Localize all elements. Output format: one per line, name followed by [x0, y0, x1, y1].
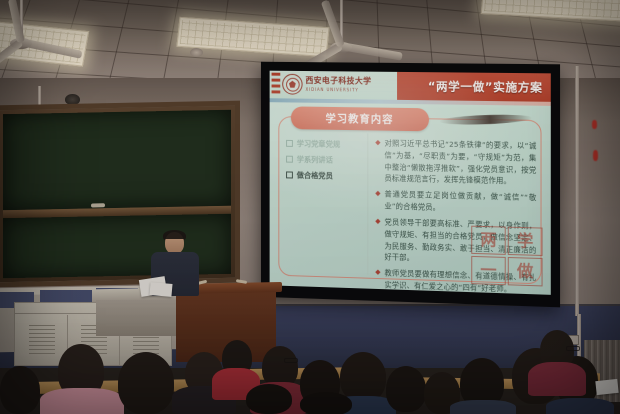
audience-head	[118, 352, 174, 414]
chalk-piece[interactable]	[91, 203, 105, 207]
slide-paragraph: ◆ 普通党员要立足岗位做贡献，做“诚信”“敬业”的合格党员。	[375, 189, 536, 217]
watermark-char-2: 学	[508, 227, 543, 256]
university-logo: 西安电子科技大学 XIDIAN UNIVERSITY	[282, 74, 371, 96]
green-chalkboard	[0, 101, 240, 288]
bullet-icon: ◆	[375, 216, 380, 263]
ceiling-fan-left	[18, 0, 24, 44]
ceiling-fan-right	[338, 0, 344, 48]
eyeglasses-icon	[566, 346, 580, 351]
slide-nav-list: 学习党章党规 学系列讲话 做合格党员	[286, 138, 362, 187]
audience-shoulders	[40, 388, 124, 414]
eyeglasses-icon	[284, 358, 298, 363]
pipe-mark-2	[593, 150, 598, 161]
pipe-mark-1	[592, 120, 597, 129]
bullet-icon: ◆	[375, 189, 380, 213]
slide-paragraph-text-1: 对照习近平总书记“25条铁律”的要求，以“诚信”为基，“尽职责”为要，“守规矩”…	[385, 138, 537, 188]
watermark-char-3: 一	[471, 256, 506, 285]
lecture-hall-photo: 西安电子科技大学 XIDIAN UNIVERSITY “两学一做”实施方案 学习…	[0, 0, 620, 414]
audience-head	[386, 366, 426, 412]
watermark-char-1: 两	[471, 226, 506, 255]
audience-head	[246, 384, 292, 414]
vent-louver	[29, 325, 55, 355]
slide-nav-divider	[367, 133, 368, 274]
slide-nav-item-1[interactable]: 学习党章党规	[286, 138, 362, 150]
presenter-head	[165, 232, 184, 254]
projection-screen-frame: 西安电子科技大学 XIDIAN UNIVERSITY “两学一做”实施方案 学习…	[261, 62, 560, 308]
bullet-icon: ◆	[375, 137, 380, 184]
slide-paragraph: ◆ 对照习近平总书记“25条铁律”的要求，以“诚信”为基，“尽职责”为要，“守规…	[375, 137, 536, 188]
audience-head	[300, 392, 352, 414]
audience-notes	[595, 379, 618, 395]
logo-english-name: XIDIAN UNIVERSITY	[306, 86, 372, 92]
presenter-papers-2	[149, 282, 172, 297]
slide-nav-item-3[interactable]: 做合格党员	[286, 169, 362, 182]
bullet-icon: ◆	[375, 267, 380, 291]
wall-pipe-right	[575, 66, 579, 316]
audience-shoulders	[546, 398, 614, 414]
slide-nav-label-1: 学习党章党规	[297, 138, 340, 150]
projected-slide: 西安电子科技大学 XIDIAN UNIVERSITY “两学一做”实施方案 学习…	[270, 71, 551, 295]
slide-section-heading: 学习教育内容	[291, 106, 429, 131]
slide-watermark: 两 学 一 做	[471, 226, 544, 287]
checkbox-checked-icon	[286, 171, 293, 178]
audience-shoulders	[450, 400, 516, 414]
smoke-detector	[190, 48, 203, 57]
audience-shoulders-maroon	[528, 362, 586, 396]
university-seal-icon	[282, 74, 302, 95]
logo-chinese-name: 西安电子科技大学	[306, 77, 372, 86]
slide-body: 学习教育内容 学习党章党规 学系列讲话 做合格党员	[270, 102, 551, 295]
slide-nav-label-3: 做合格党员	[297, 170, 333, 182]
checkbox-icon	[286, 156, 293, 163]
watermark-char-4: 做	[508, 257, 543, 286]
slide-comb-decoration	[272, 73, 281, 97]
audience-head	[0, 366, 40, 414]
slide-paragraph-text-2: 普通党员要立足岗位做贡献，做“诚信”“敬业”的合格党员。	[385, 189, 537, 216]
slide-nav-label-2: 学系列讲话	[297, 154, 333, 166]
slide-title: “两学一做”实施方案	[428, 75, 543, 98]
checkbox-icon	[286, 140, 293, 147]
slide-nav-item-2[interactable]: 学系列讲话	[286, 154, 362, 166]
audience-head	[340, 352, 386, 402]
chalkboard-panel-upper	[3, 110, 231, 210]
